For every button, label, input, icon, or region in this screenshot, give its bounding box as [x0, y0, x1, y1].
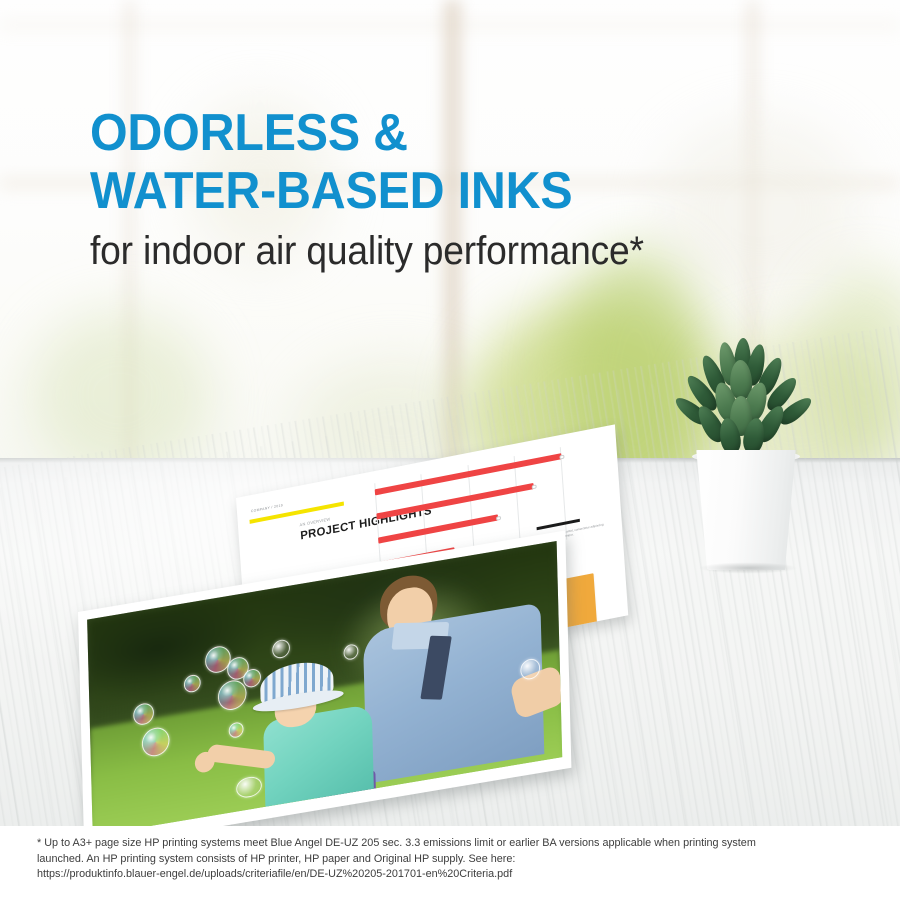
- footnote-line-1: * Up to A3+ page size HP printing system…: [37, 836, 826, 852]
- white-ceramic-pot: [692, 450, 800, 570]
- headline-block: ODORLESS & WATER-BASED INKS for indoor a…: [90, 104, 850, 274]
- marketing-poster: COMPANY / 2019 AN OVERVIEW PROJECT HIGHL…: [0, 0, 900, 900]
- headline-line-2: WATER-BASED INKS: [90, 162, 797, 220]
- potted-succulent-plant: [676, 338, 816, 570]
- footnote-line-3: https://produktinfo.blauer-engel.de/uplo…: [37, 867, 826, 883]
- footnote-disclaimer: * Up to A3+ page size HP printing system…: [37, 836, 826, 883]
- brochure-eyebrow: COMPANY / 2019: [251, 503, 283, 513]
- headline-subline: for indoor air quality performance*: [90, 228, 797, 274]
- pot-shadow: [680, 560, 816, 575]
- chart-bar: [378, 514, 498, 543]
- headline-line-1: ODORLESS &: [90, 104, 797, 162]
- child-figure: [252, 643, 423, 812]
- footnote-line-2: launched. An HP printing system consists…: [37, 852, 826, 868]
- succulent-leaves: [676, 338, 816, 466]
- footer-band: * Up to A3+ page size HP printing system…: [0, 826, 900, 900]
